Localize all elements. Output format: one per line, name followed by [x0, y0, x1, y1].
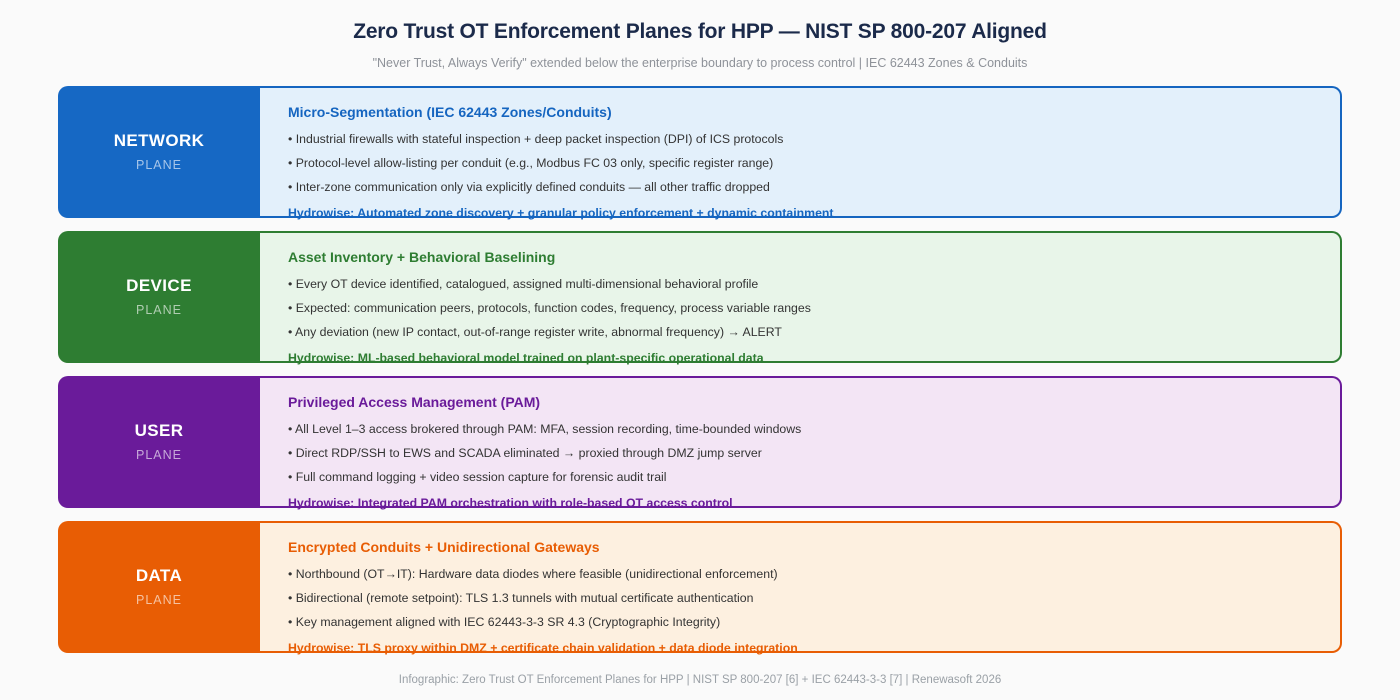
plane-label-main: NETWORK — [114, 131, 205, 151]
plane-label-sub: PLANE — [136, 303, 182, 317]
plane-hydrowise-note: Hydrowise: ML-based behavioral model tra… — [288, 350, 1318, 367]
plane-heading: Encrypted Conduits + Unidirectional Gate… — [288, 539, 1318, 556]
plane-label-data: DATAPLANE — [58, 521, 260, 653]
plane-hydrowise-note: Hydrowise: Automated zone discovery + gr… — [288, 205, 1318, 222]
plane-hydrowise-note: Hydrowise: TLS proxy within DMZ + certif… — [288, 640, 1318, 657]
plane-label-device: DEVICEPLANE — [58, 231, 260, 363]
header: Zero Trust OT Enforcement Planes for HPP… — [0, 0, 1400, 72]
infographic-page: Zero Trust OT Enforcement Planes for HPP… — [0, 0, 1400, 700]
plane-heading: Asset Inventory + Behavioral Baselining — [288, 249, 1318, 266]
plane-bullet: • Expected: communication peers, protoco… — [288, 300, 1318, 318]
plane-bullet: • Protocol-level allow-listing per condu… — [288, 155, 1318, 173]
plane-bullet: • Key management aligned with IEC 62443-… — [288, 614, 1318, 632]
enforcement-planes-list: NETWORKPLANEMicro-Segmentation (IEC 6244… — [0, 86, 1400, 664]
plane-row-user: USERPLANEPrivileged Access Management (P… — [58, 376, 1342, 508]
plane-hydrowise-note: Hydrowise: Integrated PAM orchestration … — [288, 495, 1318, 512]
plane-body-device: Asset Inventory + Behavioral Baselining•… — [260, 231, 1342, 363]
plane-label-sub: PLANE — [136, 593, 182, 607]
plane-bullet: • Bidirectional (remote setpoint): TLS 1… — [288, 590, 1318, 608]
plane-bullet: • All Level 1–3 access brokered through … — [288, 421, 1318, 439]
plane-bullet: • Any deviation (new IP contact, out-of-… — [288, 324, 1318, 342]
plane-bullet: • Direct RDP/SSH to EWS and SCADA elimin… — [288, 445, 1318, 463]
plane-label-main: USER — [135, 421, 184, 441]
page-subtitle: "Never Trust, Always Verify" extended be… — [60, 55, 1340, 71]
plane-row-data: DATAPLANEEncrypted Conduits + Unidirecti… — [58, 521, 1342, 653]
plane-label-sub: PLANE — [136, 448, 182, 462]
plane-bullet: • Industrial firewalls with stateful ins… — [288, 131, 1318, 149]
plane-body-data: Encrypted Conduits + Unidirectional Gate… — [260, 521, 1342, 653]
plane-bullet: • Full command logging + video session c… — [288, 469, 1318, 487]
plane-row-device: DEVICEPLANEAsset Inventory + Behavioral … — [58, 231, 1342, 363]
plane-heading: Micro-Segmentation (IEC 62443 Zones/Cond… — [288, 104, 1318, 121]
plane-bullet: • Northbound (OT→IT): Hardware data diod… — [288, 566, 1318, 584]
plane-body-network: Micro-Segmentation (IEC 62443 Zones/Cond… — [260, 86, 1342, 218]
plane-heading: Privileged Access Management (PAM) — [288, 394, 1318, 411]
plane-label-main: DEVICE — [126, 276, 192, 296]
plane-row-network: NETWORKPLANEMicro-Segmentation (IEC 6244… — [58, 86, 1342, 218]
plane-bullet: • Every OT device identified, catalogued… — [288, 276, 1318, 294]
plane-bullet: • Inter-zone communication only via expl… — [288, 179, 1318, 197]
plane-label-user: USERPLANE — [58, 376, 260, 508]
plane-body-user: Privileged Access Management (PAM)• All … — [260, 376, 1342, 508]
plane-label-network: NETWORKPLANE — [58, 86, 260, 218]
plane-label-sub: PLANE — [136, 158, 182, 172]
plane-label-main: DATA — [136, 566, 182, 586]
footer-caption: Infographic: Zero Trust OT Enforcement P… — [0, 664, 1400, 700]
page-title: Zero Trust OT Enforcement Planes for HPP… — [60, 18, 1340, 45]
